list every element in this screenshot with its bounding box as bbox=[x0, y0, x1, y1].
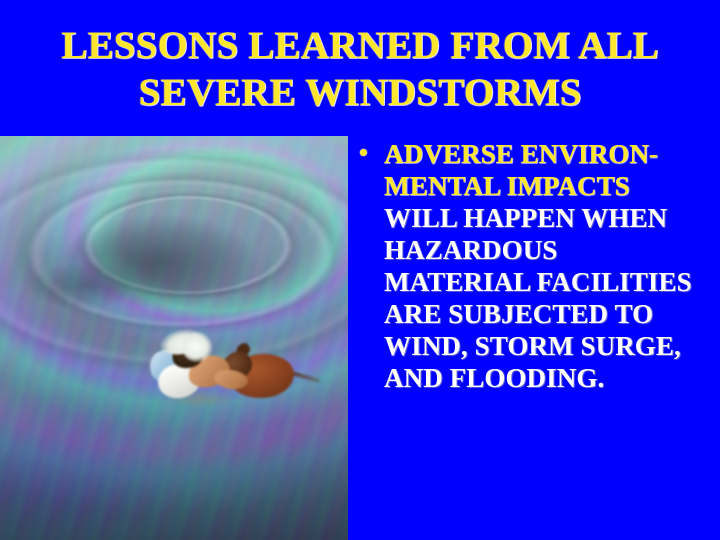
slide-body: ADVERSE ENVIRON- MENTAL IMPACTS WILL HAP… bbox=[360, 138, 712, 394]
bullet-dot-icon bbox=[360, 138, 384, 156]
slide-title: LESSONS LEARNED FROM ALL SEVERE WINDSTOR… bbox=[20, 22, 700, 116]
body-line-7: WIND, STORM SURGE, bbox=[384, 330, 712, 362]
bullet-text: ADVERSE ENVIRON- MENTAL IMPACTS WILL HAP… bbox=[384, 138, 712, 394]
presentation-slide: LESSONS LEARNED FROM ALL SEVERE WINDSTOR… bbox=[0, 0, 720, 540]
bullet-item: ADVERSE ENVIRON- MENTAL IMPACTS WILL HAP… bbox=[360, 138, 712, 394]
title-line-1: LESSONS LEARNED FROM ALL bbox=[20, 22, 700, 69]
body-line-2: MENTAL IMPACTS bbox=[384, 170, 712, 202]
body-line-1: ADVERSE ENVIRON- bbox=[384, 138, 712, 170]
title-line-2: SEVERE WINDSTORMS bbox=[20, 69, 700, 116]
body-line-6: ARE SUBJECTED TO bbox=[384, 298, 712, 330]
body-line-8: AND FLOODING. bbox=[384, 362, 712, 394]
flood-oil-spill-photo bbox=[0, 136, 348, 540]
body-line-4: HAZARDOUS bbox=[384, 234, 712, 266]
body-line-3: WILL HAPPEN WHEN bbox=[384, 202, 712, 234]
photo-vignette bbox=[0, 136, 348, 540]
body-line-5: MATERIAL FACILITIES bbox=[384, 266, 712, 298]
